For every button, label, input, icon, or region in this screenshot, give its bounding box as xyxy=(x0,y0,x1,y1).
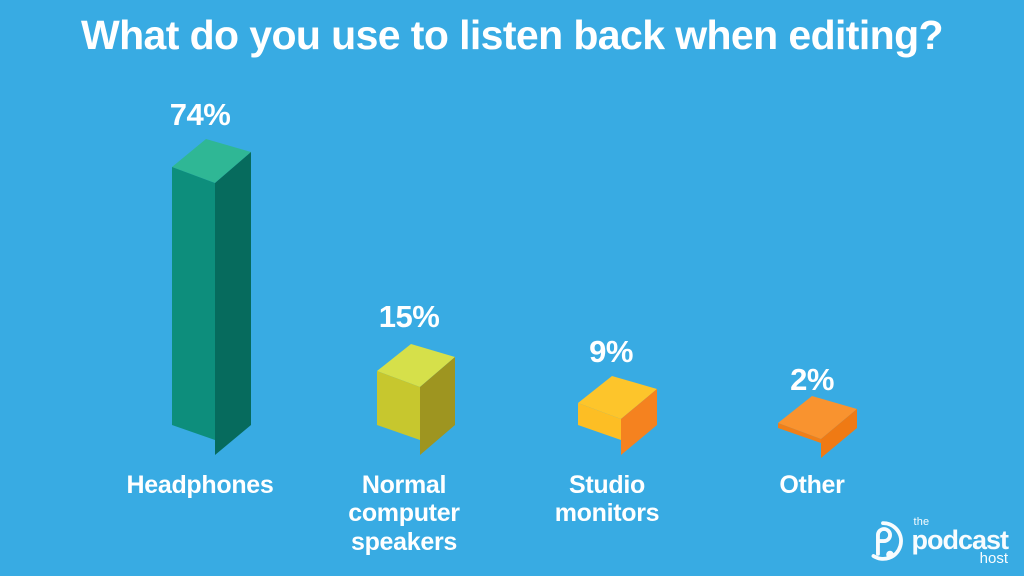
podcast-p-icon xyxy=(861,519,905,563)
category-label-other: Other xyxy=(682,471,942,499)
infographic-canvas: What do you use to listen back when edit… xyxy=(0,0,1024,576)
bar-value-label-headphones: 74% xyxy=(170,97,231,133)
bar-value-label-other: 2% xyxy=(790,362,834,398)
bar-headphones-left-face xyxy=(172,167,215,440)
category-label-line: Other xyxy=(682,471,942,499)
bar-normal-computer-speakers xyxy=(377,344,455,455)
bar-headphones xyxy=(172,139,251,455)
logo-wordmark: the podcast host xyxy=(911,515,1008,566)
bar-other xyxy=(778,396,857,458)
category-label-line: speakers xyxy=(274,528,534,556)
bar-headphones-right-face xyxy=(215,152,251,455)
bar-value-label-normal-computer-speakers: 15% xyxy=(379,299,440,335)
podcast-host-logo: the podcast host xyxy=(861,515,1008,566)
bar-value-label-studio-monitors: 9% xyxy=(589,334,633,370)
bar-studio-monitors xyxy=(578,376,657,455)
category-label-line: monitors xyxy=(477,499,737,527)
